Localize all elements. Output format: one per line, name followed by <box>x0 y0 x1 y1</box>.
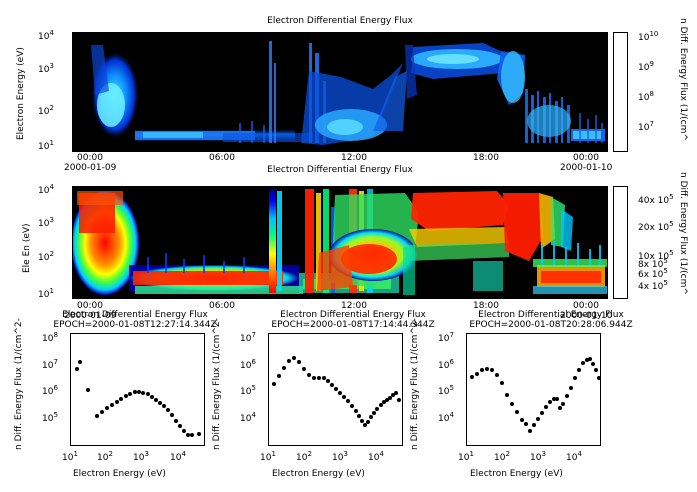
spectrum-left-xlabel: Electron Energy (eV) <box>73 469 166 479</box>
spectrum-right-xtick-1: 101 <box>458 450 474 463</box>
spectrogram-top-xtick-4: 18:00 <box>473 153 499 163</box>
spectrum-left-points <box>71 334 204 445</box>
spectrum-left-xtick-3: 103 <box>133 450 149 463</box>
colorbar-bottom-tick-40: 40x 105 <box>638 193 674 206</box>
colorbar-bottom-label-wrap: n Diff. Energy Flux (1/(cm^ <box>688 172 697 182</box>
colorbar-top-tick-10: 1010 <box>638 30 658 43</box>
spectrum-right-ytick-5: 105 <box>438 384 454 397</box>
spectrogram-bottom-image <box>73 187 607 298</box>
spectrogram-bottom-ylabel-wrap: Ele En (eV) <box>22 273 72 283</box>
spectrum-left-ytick-6: 106 <box>42 384 58 397</box>
spectrogram-bottom-ylabel: Ele En (eV) <box>22 223 32 273</box>
spectrum-left-title: Electron Differential Energy Flux <box>45 310 225 320</box>
colorbar-bottom-tick-4: 4x 105 <box>638 279 668 292</box>
colorbar-bottom-tick-20: 20x 105 <box>638 220 674 233</box>
spectrum-middle-xtick-3: 103 <box>332 450 348 463</box>
spectrum-right-ytick-4: 104 <box>438 411 454 424</box>
spectrogram-bottom-ytick-4: 104 <box>38 183 54 196</box>
spectrogram-top-xtick-1: 00:00 <box>77 153 103 163</box>
spectrogram-top-title: Electron Differential Energy Flux <box>190 16 490 26</box>
spectrum-right-xlabel: Electron Energy (eV) <box>470 469 563 479</box>
spectrum-right-xtick-3: 103 <box>530 450 546 463</box>
spectrum-left-xtick-4: 104 <box>170 450 186 463</box>
spectrogram-bottom-ytick-2: 102 <box>38 250 54 263</box>
colorbar-top-label: n Diff. Energy Flux (1/(cm^ <box>678 18 688 141</box>
spectrogram-top-ytick-4: 104 <box>38 29 54 42</box>
colorbar-top-tick-7: 107 <box>638 120 654 133</box>
spectrum-left-xtick-1: 101 <box>62 450 78 463</box>
spectrum-right-title: Electron Differential Energy Flux <box>456 310 646 320</box>
spectrogram-bottom-plot[interactable] <box>72 186 608 299</box>
spectrum-middle-plot[interactable] <box>268 333 403 446</box>
spectrum-right-ytick-7: 107 <box>438 331 454 344</box>
spectrum-left-ylabel-wrap: n Diff. Energy Flux (1/(cm^2- <box>14 450 146 460</box>
spectrum-right-ytick-6: 106 <box>438 358 454 371</box>
colorbar-top-tick-8: 108 <box>638 90 654 103</box>
spectrum-left-ytick-8: 108 <box>42 331 58 344</box>
spectrogram-top-ytick-1: 101 <box>38 139 54 152</box>
spectrum-right-xtick-2: 102 <box>494 450 510 463</box>
spectrogram-top-xtick-3: 12:00 <box>341 153 367 163</box>
spectrogram-top-image <box>73 33 607 151</box>
spectrogram-bottom-title: Electron Differential Energy Flux <box>190 165 490 175</box>
spectrum-middle-ylabel-wrap: n Diff. Energy Flux (1/(cm^2- <box>212 450 344 460</box>
spectrogram-top-ytick-3: 103 <box>38 62 54 75</box>
spectrum-right-ylabel: n Diff. Energy Flux (1/(cm^2- <box>410 318 420 450</box>
spectrum-middle-ylabel: n Diff. Energy Flux (1/(cm^2- <box>212 318 222 450</box>
spectrogram-top-colorbar[interactable] <box>613 32 628 152</box>
spectrum-middle-ytick-4: 104 <box>240 411 256 424</box>
spectrum-left-ytick-7: 107 <box>42 358 58 371</box>
spectrum-middle-xtick-1: 101 <box>260 450 276 463</box>
colorbar-top-label-wrap: n Diff. Energy Flux (1/(cm^ <box>688 18 697 28</box>
spectrogram-top-xdate-left: 2000-01-09 <box>64 163 116 173</box>
spectrogram-top-ytick-2: 102 <box>38 104 54 117</box>
spectrum-left-ylabel: n Diff. Energy Flux (1/(cm^2- <box>14 318 24 450</box>
colorbar-bottom-label: n Diff. Energy Flux (1/(cm^ <box>678 172 688 295</box>
spectrum-right-ylabel-wrap: n Diff. Energy Flux (1/(cm^2- <box>410 450 542 460</box>
spectrum-right-plot[interactable] <box>466 333 601 446</box>
spectrum-right-points <box>467 334 600 445</box>
spectrogram-bottom-ytick-3: 103 <box>38 216 54 229</box>
spectrum-middle-xtick-4: 104 <box>368 450 384 463</box>
spectrogram-top-xdate-right: 2000-01-10 <box>560 163 612 173</box>
spectrogram-top-ylabel: Electron Energy (eV) <box>16 47 26 140</box>
spectrogram-bottom-ytick-1: 101 <box>38 287 54 300</box>
spectrum-middle-xlabel: Electron Energy (eV) <box>272 469 365 479</box>
spectrum-left-plot[interactable] <box>70 333 205 446</box>
spectrum-left-xtick-2: 102 <box>97 450 113 463</box>
spectrum-middle-xtick-2: 102 <box>296 450 312 463</box>
spectrogram-bottom-colorbar[interactable] <box>613 186 628 299</box>
spectrum-left-epoch: EPOCH=2000-01-08T12:27:14.344Z <box>45 320 225 330</box>
spectrum-middle-ytick-6: 106 <box>240 358 256 371</box>
spectrogram-top-xtick-5: 00:00 <box>573 153 599 163</box>
spectrum-right-epoch: EPOCH=2000-01-08T20:28:06.944Z <box>456 320 646 330</box>
spectrum-middle-ytick-5: 105 <box>240 384 256 397</box>
spectrogram-top-xtick-2: 06:00 <box>209 153 235 163</box>
colorbar-top-tick-9: 109 <box>638 60 654 73</box>
spectrum-left-ytick-5: 105 <box>42 411 58 424</box>
spectrum-middle-ytick-7: 107 <box>240 331 256 344</box>
spectrum-right-xtick-4: 104 <box>566 450 582 463</box>
spectrum-middle-points <box>269 334 402 445</box>
spectrogram-top-plot[interactable] <box>72 32 608 152</box>
